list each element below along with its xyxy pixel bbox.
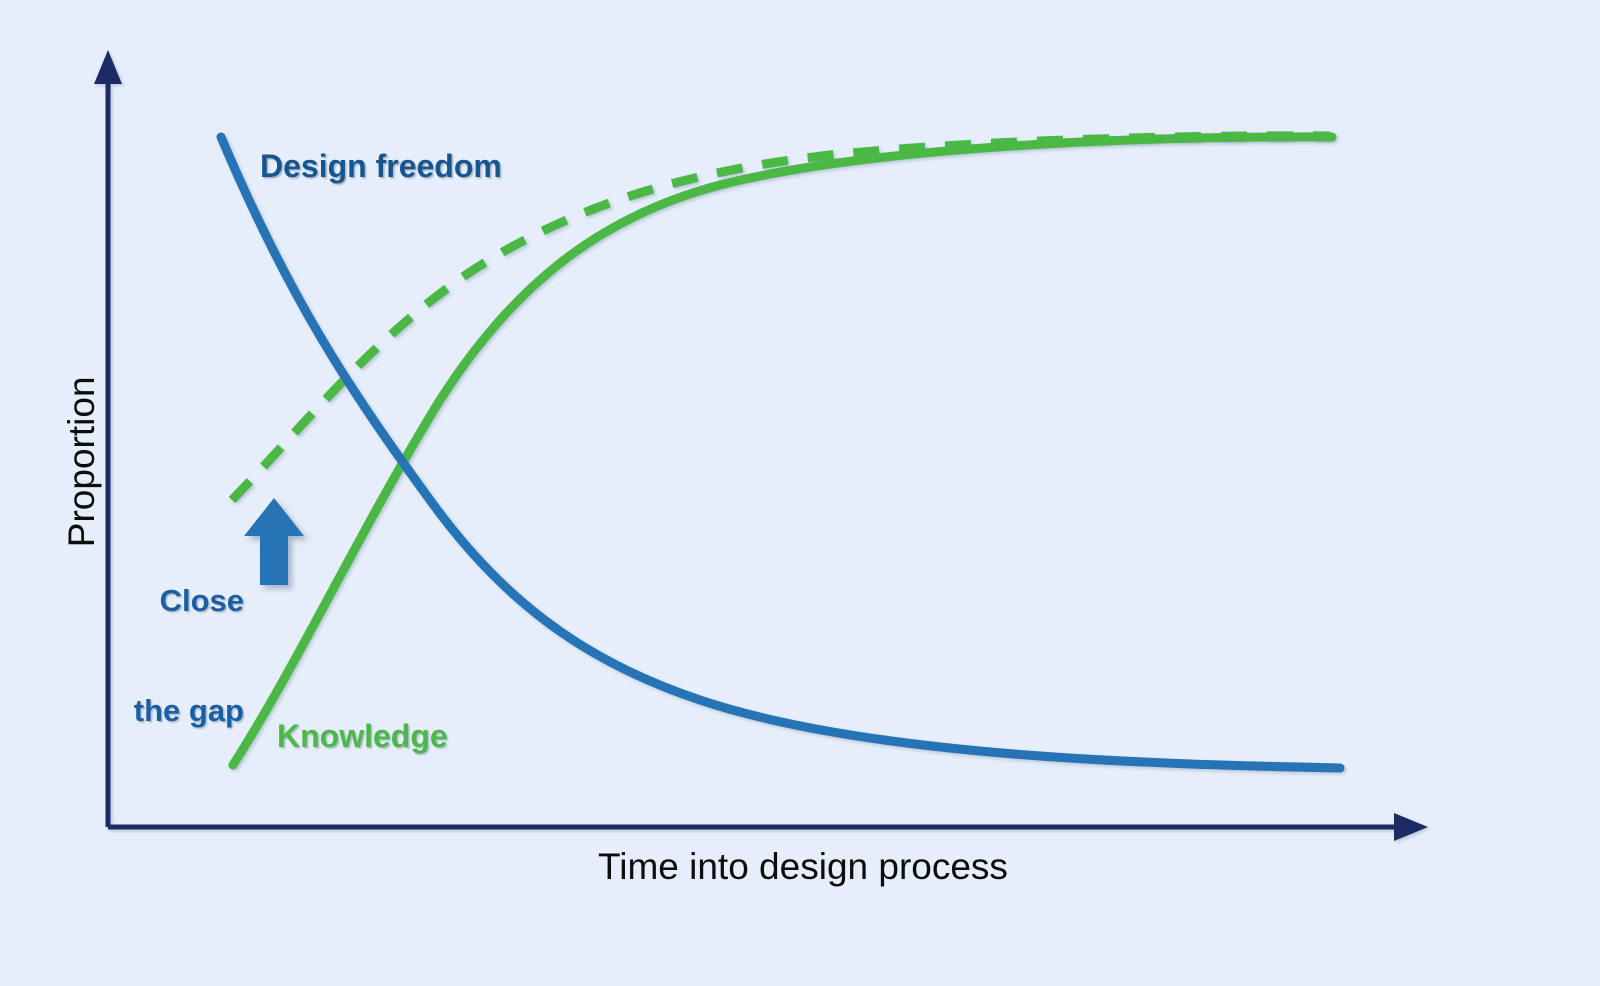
close-the-gap-arrow-icon [244, 498, 304, 585]
annotation-close-the-gap-line2: the gap [16, 693, 244, 730]
chart-canvas [0, 0, 1600, 986]
arrow-right-icon [1394, 813, 1428, 841]
annotation-close-the-gap-line1: Close [16, 583, 244, 620]
x-axis-label: Time into design process [598, 845, 1008, 889]
series-label-knowledge: Knowledge [277, 718, 448, 756]
arrow-up-icon [94, 50, 122, 84]
series-label-design-freedom: Design freedom [260, 148, 502, 186]
chart-figure: Proportion Time into design process Desi… [0, 0, 1600, 986]
annotation-close-the-gap: Close the gap [16, 510, 244, 803]
x-axis [108, 813, 1428, 841]
series-line-knowledge-target [232, 136, 1330, 500]
series-line-design-freedom [221, 137, 1340, 768]
